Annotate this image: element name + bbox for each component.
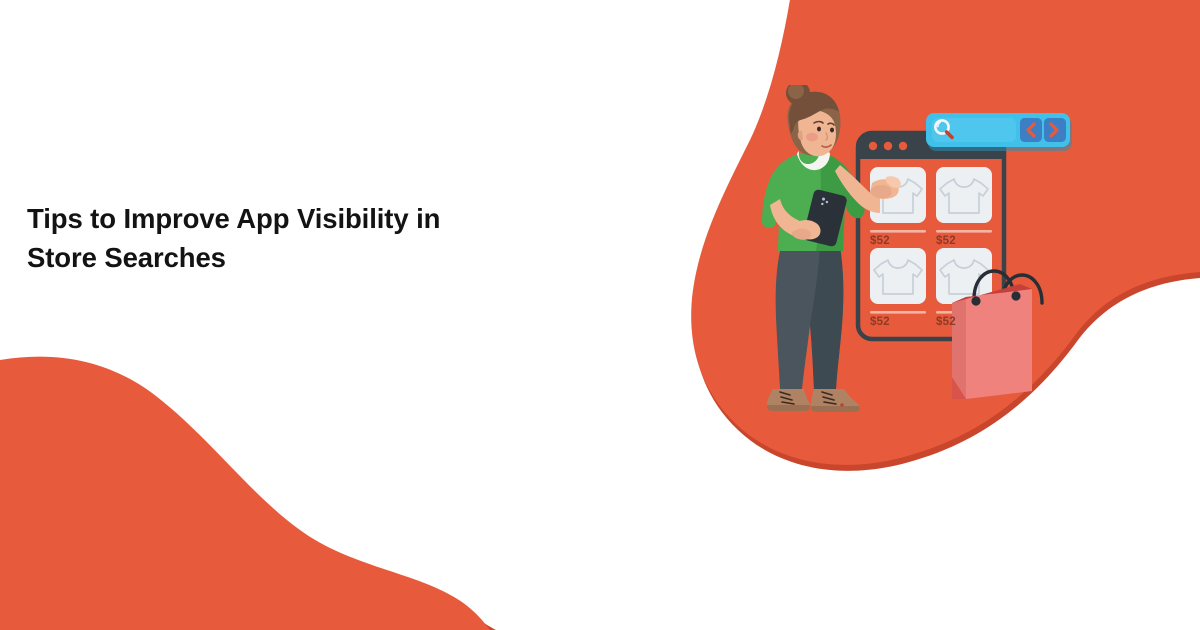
product-card[interactable] [870, 248, 926, 314]
product-price: $52 [870, 316, 890, 328]
product-divider [870, 230, 926, 233]
window-dot-1 [869, 142, 877, 150]
product-divider [936, 230, 992, 233]
product-price: $52 [936, 235, 956, 247]
next-button[interactable] [1044, 118, 1066, 142]
head [786, 85, 841, 156]
promo-banner: Tips to Improve App Visibility in Store … [0, 0, 1200, 630]
prev-button[interactable] [1020, 118, 1042, 142]
left-shoe [767, 389, 811, 411]
page-title: Tips to Improve App Visibility in Store … [27, 199, 497, 277]
window-dot-2 [884, 142, 892, 150]
right-shoe [811, 389, 860, 412]
product-price: $52 [936, 316, 956, 328]
hero-illustration: $52 $52 $52 $52 [740, 85, 1090, 430]
product-price: $52 [870, 235, 890, 247]
window-dot-3 [899, 142, 907, 150]
blob-bottom-left [0, 357, 490, 630]
product-card[interactable] [936, 167, 992, 233]
product-divider [870, 311, 926, 314]
search-bar[interactable] [926, 113, 1072, 151]
